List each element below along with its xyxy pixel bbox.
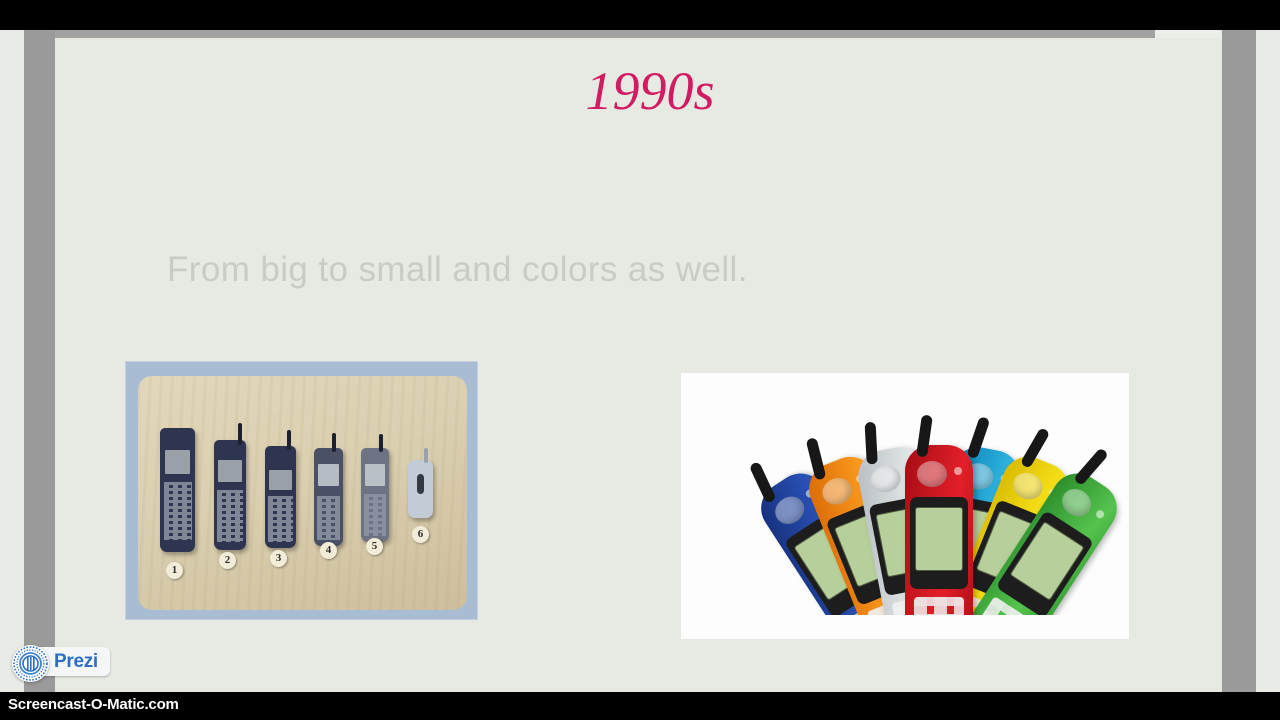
screencast-watermark: Screencast-O-Matic.com [8,696,179,713]
nokia-phone-red [905,445,973,639]
frame-bar-left [24,30,55,692]
phone-number-marker-6: 6 [412,526,429,543]
fan-bottom-mask [681,615,1129,639]
nokia-fan [681,373,1129,639]
stage-margin-left [0,30,24,692]
phone-number-marker-2: 2 [219,552,236,569]
prezi-logo-label: Prezi [54,651,98,673]
photo-vintage-phones-lineup[interactable]: 1 2 3 4 [125,361,478,620]
frame-bar-right [1222,30,1256,692]
vintage-phone-4 [314,448,343,546]
vintage-phone-3 [265,446,296,548]
vintage-phone-1 [160,428,195,552]
phone-number-marker-5: 5 [366,538,383,555]
prezi-circular-emblem-icon [12,645,49,682]
screen-recording-frame: 1990s From big to small and colors as we… [0,0,1280,720]
slide-title: 1990s [55,64,1222,118]
vintage-phone-2 [214,440,246,550]
frame-bar-top [55,30,1155,38]
vintage-phone-5 [361,448,389,542]
prezi-slide[interactable]: 1990s From big to small and colors as we… [55,38,1222,692]
letterbox-bar-top [0,0,1280,30]
photo-nokia-color-fan[interactable] [681,373,1129,639]
slide-subtitle: From big to small and colors as well. [167,250,748,290]
phone-number-marker-3: 3 [270,550,287,567]
stage-margin-right [1256,30,1280,692]
phone-number-marker-4: 4 [320,542,337,559]
vintage-phone-6 [408,460,433,518]
letterbox-bar-bottom [0,692,1280,720]
phone-number-marker-1: 1 [166,562,183,579]
